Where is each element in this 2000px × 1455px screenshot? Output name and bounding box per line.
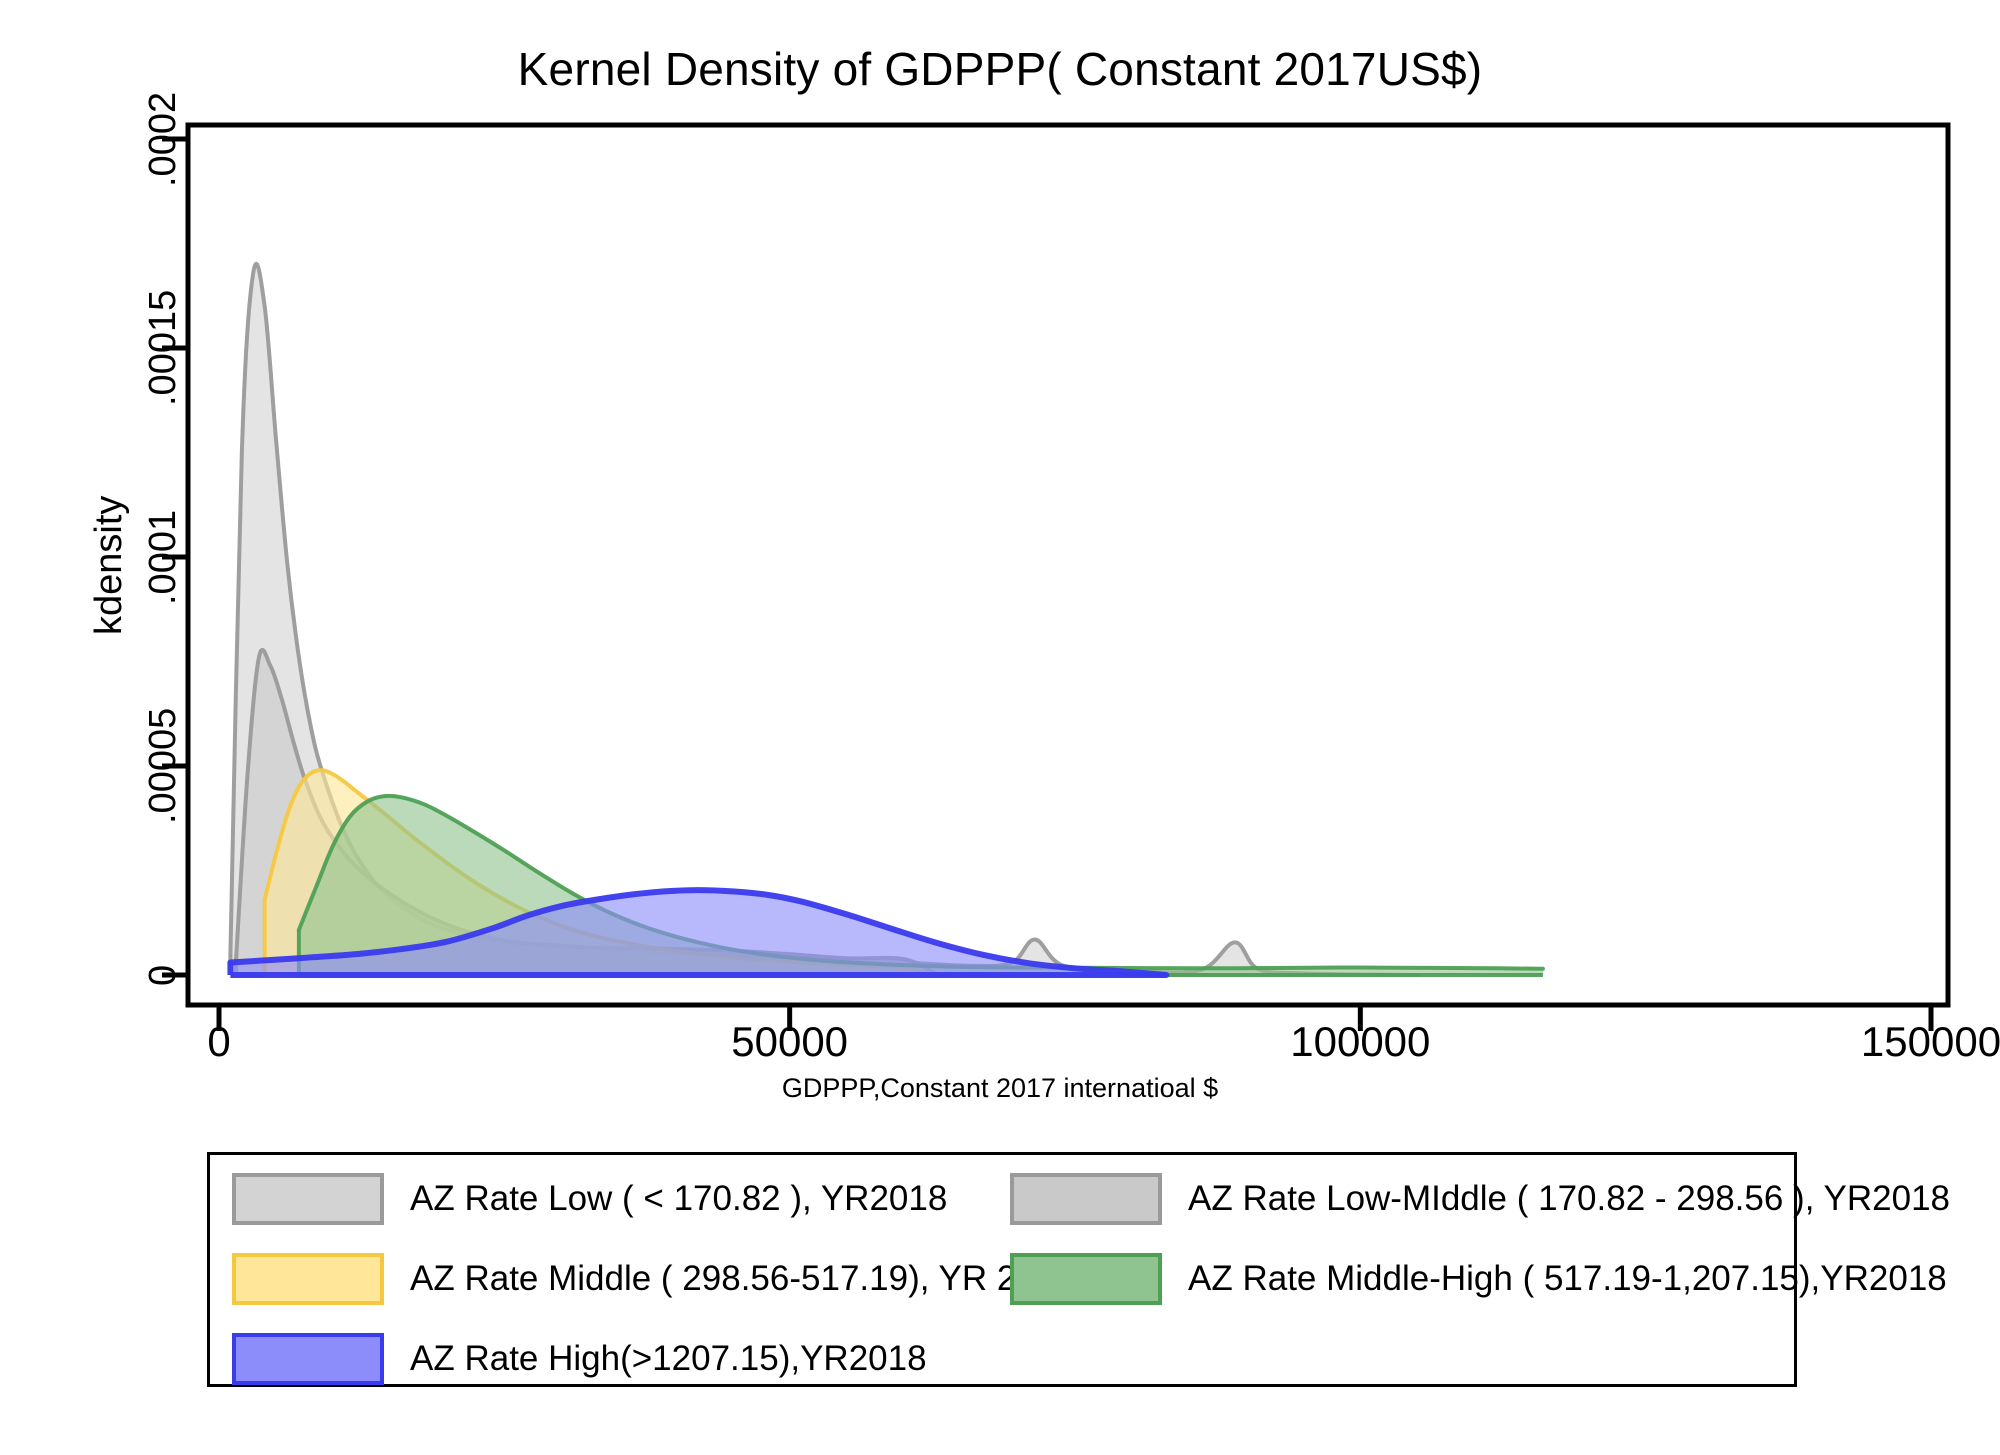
legend-label: AZ Rate Middle-High ( 517.19-1,207.15),Y…	[1188, 1259, 1947, 1299]
plot-area	[0, 0, 2000, 1130]
legend-item[interactable]: AZ Rate Low ( < 170.82 ), YR2018	[232, 1173, 947, 1225]
legend-label: AZ Rate Low-MIddle ( 170.82 - 298.56 ), …	[1188, 1179, 1950, 1219]
legend-item[interactable]: AZ Rate High(>1207.15),YR2018	[232, 1333, 927, 1385]
y-tick-label: .00005	[142, 708, 185, 824]
legend-label: AZ Rate High(>1207.15),YR2018	[410, 1339, 927, 1379]
kernel-density-chart: Kernel Density of GDPPP( Constant 2017US…	[0, 0, 2000, 1455]
x-axis-ticks	[219, 1005, 1931, 1031]
x-axis-label: GDPPP,Constant 2017 internatioal $	[0, 1073, 2000, 1104]
legend-item[interactable]: AZ Rate Middle-High ( 517.19-1,207.15),Y…	[1010, 1253, 1947, 1305]
legend-swatch	[232, 1253, 384, 1305]
x-tick-label: 0	[69, 1018, 369, 1066]
x-tick-label: 50000	[640, 1018, 940, 1066]
y-tick-label: .0001	[142, 509, 185, 604]
legend-swatch	[232, 1333, 384, 1385]
chart-legend: AZ Rate Low ( < 170.82 ), YR2018AZ Rate …	[207, 1152, 1797, 1387]
legend-item[interactable]: AZ Rate Low-MIddle ( 170.82 - 298.56 ), …	[1010, 1173, 1950, 1225]
legend-swatch	[232, 1173, 384, 1225]
y-tick-label: .0002	[142, 91, 185, 186]
x-tick-label: 150000	[1781, 1018, 2000, 1066]
legend-swatch	[1010, 1173, 1162, 1225]
y-tick-label: 0	[142, 964, 185, 985]
plot-svg	[0, 0, 2000, 1130]
legend-label: AZ Rate Low ( < 170.82 ), YR2018	[410, 1179, 947, 1219]
y-axis-label: kdensity	[88, 495, 131, 634]
y-tick-label: .00015	[142, 290, 185, 406]
x-tick-label: 100000	[1210, 1018, 1510, 1066]
legend-item[interactable]: AZ Rate Middle ( 298.56-517.19), YR 2018	[232, 1253, 1075, 1305]
legend-label: AZ Rate Middle ( 298.56-517.19), YR 2018	[410, 1259, 1075, 1299]
legend-swatch	[1010, 1253, 1162, 1305]
